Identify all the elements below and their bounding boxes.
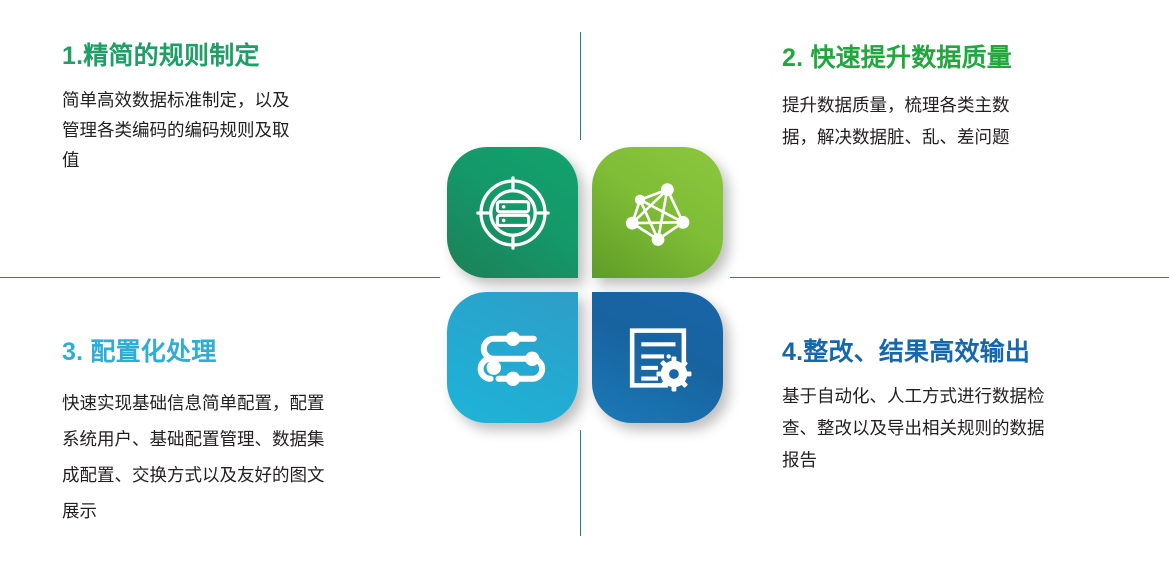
tile-config[interactable] [447,292,578,423]
quadrant-rules-body: 简单高效数据标准制定，以及 管理各类编码的编码规则及取 值 [62,85,442,175]
quadrant-quality-body-line: 提升数据质量，梳理各类主数 [782,90,1162,122]
icon-tile-cluster [447,147,723,423]
quadrant-config-title: 3. 配置化处理 [62,332,457,368]
quadrant-config-body-line: 系统用户、基础配置管理、数据集 [62,421,457,457]
quadrant-rules-body-line: 简单高效数据标准制定，以及 [62,85,442,115]
quadrant-rules-body-line: 值 [62,145,442,175]
quadrant-report-body: 基于自动化、人工方式进行数据检 查、整改以及导出相关规则的数据 报告 [782,381,1169,477]
slide-canvas: 1.精简的规则制定 简单高效数据标准制定，以及 管理各类编码的编码规则及取 值 … [0,0,1169,569]
target-database-icon [474,174,552,252]
quadrant-quality: 2. 快速提升数据质量 提升数据质量，梳理各类主数 据，解决数据脏、乱、差问题 [782,38,1162,153]
network-graph-icon [619,174,697,252]
quadrant-quality-body-line: 据，解决数据脏、乱、差问题 [782,122,1162,154]
divider-horizontal-right [730,277,1169,278]
tile-quality[interactable] [592,147,723,278]
quadrant-config-body-line: 展示 [62,493,457,529]
quadrant-rules-body-line: 管理各类编码的编码规则及取 [62,115,442,145]
quadrant-report: 4.整改、结果高效输出 基于自动化、人工方式进行数据检 查、整改以及导出相关规则… [782,332,1169,477]
quadrant-config-body-line: 成配置、交换方式以及友好的图文 [62,457,457,493]
quadrant-report-title: 4.整改、结果高效输出 [782,332,1169,368]
process-flow-icon [473,318,553,398]
quadrant-report-body-line: 报告 [782,445,1169,477]
quadrant-config: 3. 配置化处理 快速实现基础信息简单配置，配置 系统用户、基础配置管理、数据集… [62,332,457,529]
quadrant-config-body: 快速实现基础信息简单配置，配置 系统用户、基础配置管理、数据集 成配置、交换方式… [62,385,457,529]
tile-report[interactable] [592,292,723,423]
quadrant-report-body-line: 基于自动化、人工方式进行数据检 [782,381,1169,413]
quadrant-report-body-line: 查、整改以及导出相关规则的数据 [782,413,1169,445]
quadrant-quality-title: 2. 快速提升数据质量 [782,38,1162,74]
tile-rules[interactable] [447,147,578,278]
divider-vertical-top [580,32,581,140]
divider-vertical-bottom [580,430,581,536]
quadrant-quality-body: 提升数据质量，梳理各类主数 据，解决数据脏、乱、差问题 [782,90,1162,153]
quadrant-rules-title: 1.精简的规则制定 [62,36,442,72]
divider-horizontal-left [0,277,440,278]
quadrant-rules: 1.精简的规则制定 简单高效数据标准制定，以及 管理各类编码的编码规则及取 值 [62,36,442,175]
quadrant-config-body-line: 快速实现基础信息简单配置，配置 [62,385,457,421]
document-gear-icon [620,320,696,396]
